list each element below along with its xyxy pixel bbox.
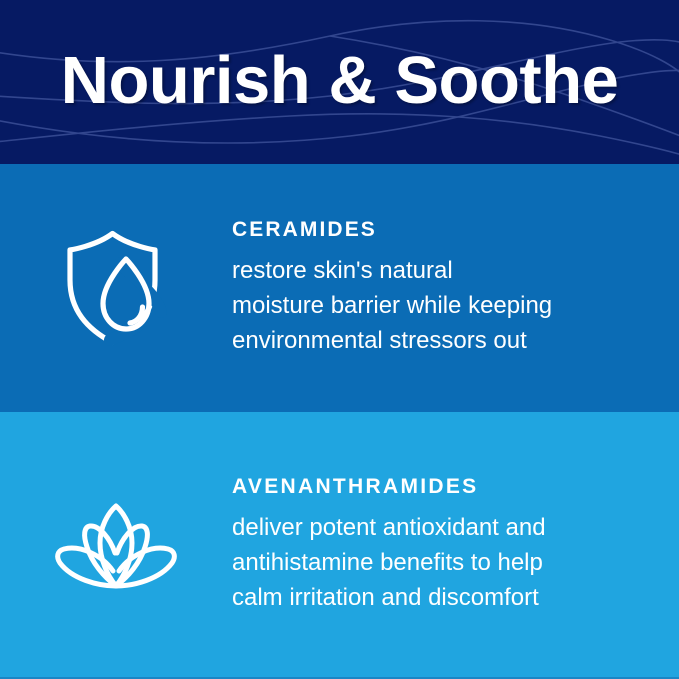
ceramides-text-block: CERAMIDES restore skin's natural moistur… xyxy=(232,219,679,358)
lotus-flower-icon xyxy=(50,501,182,591)
avenanthramides-heading: AVENANTHRAMIDES xyxy=(232,476,639,497)
benefit-panel-avenanthramides: AVENANTHRAMIDES deliver potent antioxida… xyxy=(0,412,679,679)
ceramides-heading: CERAMIDES xyxy=(232,219,639,240)
product-benefits-infographic: Nourish & Soothe CERAMIDES xyxy=(0,0,679,679)
avenanthramides-body-line-2: antihistamine benefits to help xyxy=(232,545,639,580)
avenanthramides-body: deliver potent antioxidant and antihista… xyxy=(232,510,639,615)
ceramides-body-line-1: restore skin's natural xyxy=(232,253,639,288)
ceramides-icon-wrap xyxy=(0,228,232,348)
avenanthramides-body-line-1: deliver potent antioxidant and xyxy=(232,510,639,545)
ceramides-body-line-2: moisture barrier while keeping xyxy=(232,288,639,323)
page-title: Nourish & Soothe xyxy=(0,0,679,164)
avenanthramides-text-block: AVENANTHRAMIDES deliver potent antioxida… xyxy=(232,476,679,615)
header-banner: Nourish & Soothe xyxy=(0,0,679,164)
avenanthramides-icon-wrap xyxy=(0,501,232,591)
ceramides-body-line-3: environmental stressors out xyxy=(232,323,639,358)
benefit-panel-ceramides: CERAMIDES restore skin's natural moistur… xyxy=(0,164,679,412)
shield-droplet-icon xyxy=(58,228,174,348)
avenanthramides-body-line-3: calm irritation and discomfort xyxy=(232,580,639,615)
ceramides-body: restore skin's natural moisture barrier … xyxy=(232,253,639,358)
